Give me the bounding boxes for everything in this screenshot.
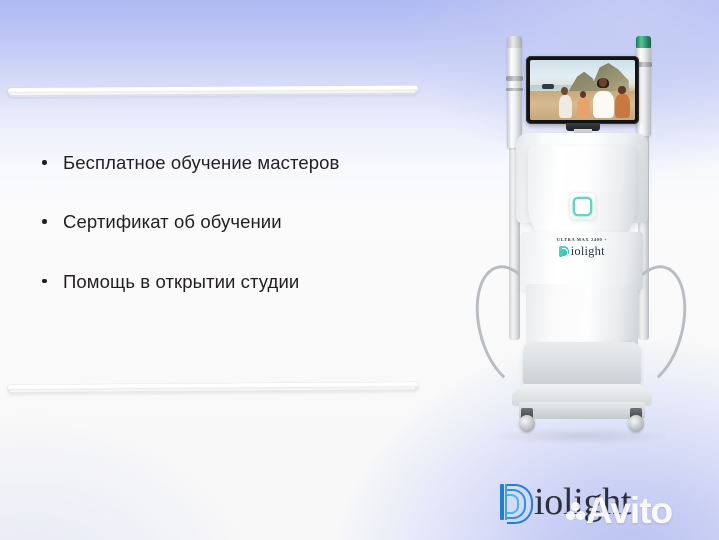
machine-display[interactable] [526, 56, 639, 124]
machine-body-lower [523, 342, 641, 388]
laser-machine-image: ULTRA MAX 2400 + iolight [462, 28, 692, 458]
photo-person [592, 78, 615, 118]
emblem-square-icon [575, 199, 590, 214]
benefits-list: Бесплатное обучение мастеров Сертификат … [40, 152, 440, 330]
photo-person-head [580, 91, 586, 98]
bullet-dot-icon [42, 279, 47, 284]
brand-d-stem [500, 484, 504, 520]
list-item: Помощь в открытии студии [40, 271, 440, 292]
photo-person [614, 85, 631, 117]
machine-floor-shadow [498, 428, 666, 444]
list-item: Сертификат об обучении [40, 211, 440, 232]
list-item-label: Бесплатное обучение мастеров [63, 152, 339, 173]
machine-base-lower [519, 402, 645, 419]
machine-model-label: ULTRA MAX 2400 + [521, 237, 643, 242]
bullet-dot-icon [42, 160, 47, 165]
photo-car [542, 84, 555, 89]
bullet-dot-icon [42, 219, 47, 224]
list-item-label: Помощь в открытии студии [63, 271, 299, 292]
list-item: Бесплатное обучение мастеров [40, 152, 440, 173]
handpiece-cap-right-icon [636, 36, 651, 48]
machine-brand-panel: ULTRA MAX 2400 + iolight [521, 232, 643, 290]
handpiece-band [506, 76, 523, 81]
avito-watermark-label: Avito [586, 490, 672, 532]
avito-watermark: Avito [566, 490, 672, 532]
photo-person-head [618, 86, 625, 94]
brand-d-ring-inner [507, 494, 519, 514]
avito-dots-icon [566, 501, 585, 521]
display-photo [530, 60, 635, 120]
brand-d-mark-icon [498, 484, 533, 520]
machine-brand-logo: iolight [521, 244, 643, 259]
machine-emblem [569, 192, 596, 220]
photo-person-body [615, 94, 630, 117]
handpiece-cap-left-icon [507, 36, 522, 48]
brand-d-mark-icon [559, 246, 569, 257]
handpiece-band [506, 88, 523, 91]
handpiece-left [507, 36, 522, 148]
background-glow-bottom-left [0, 410, 260, 540]
photo-person-head [561, 87, 568, 95]
photo-person-body [593, 91, 614, 117]
machine-brand-label: iolight [571, 244, 605, 259]
photo-person-body [559, 95, 573, 117]
photo-person [557, 86, 573, 117]
photo-person [576, 90, 591, 118]
slide-canvas: Бесплатное обучение мастеров Сертификат … [0, 0, 719, 540]
photo-person-body [577, 98, 590, 117]
list-item-label: Сертификат об обучении [63, 211, 282, 232]
